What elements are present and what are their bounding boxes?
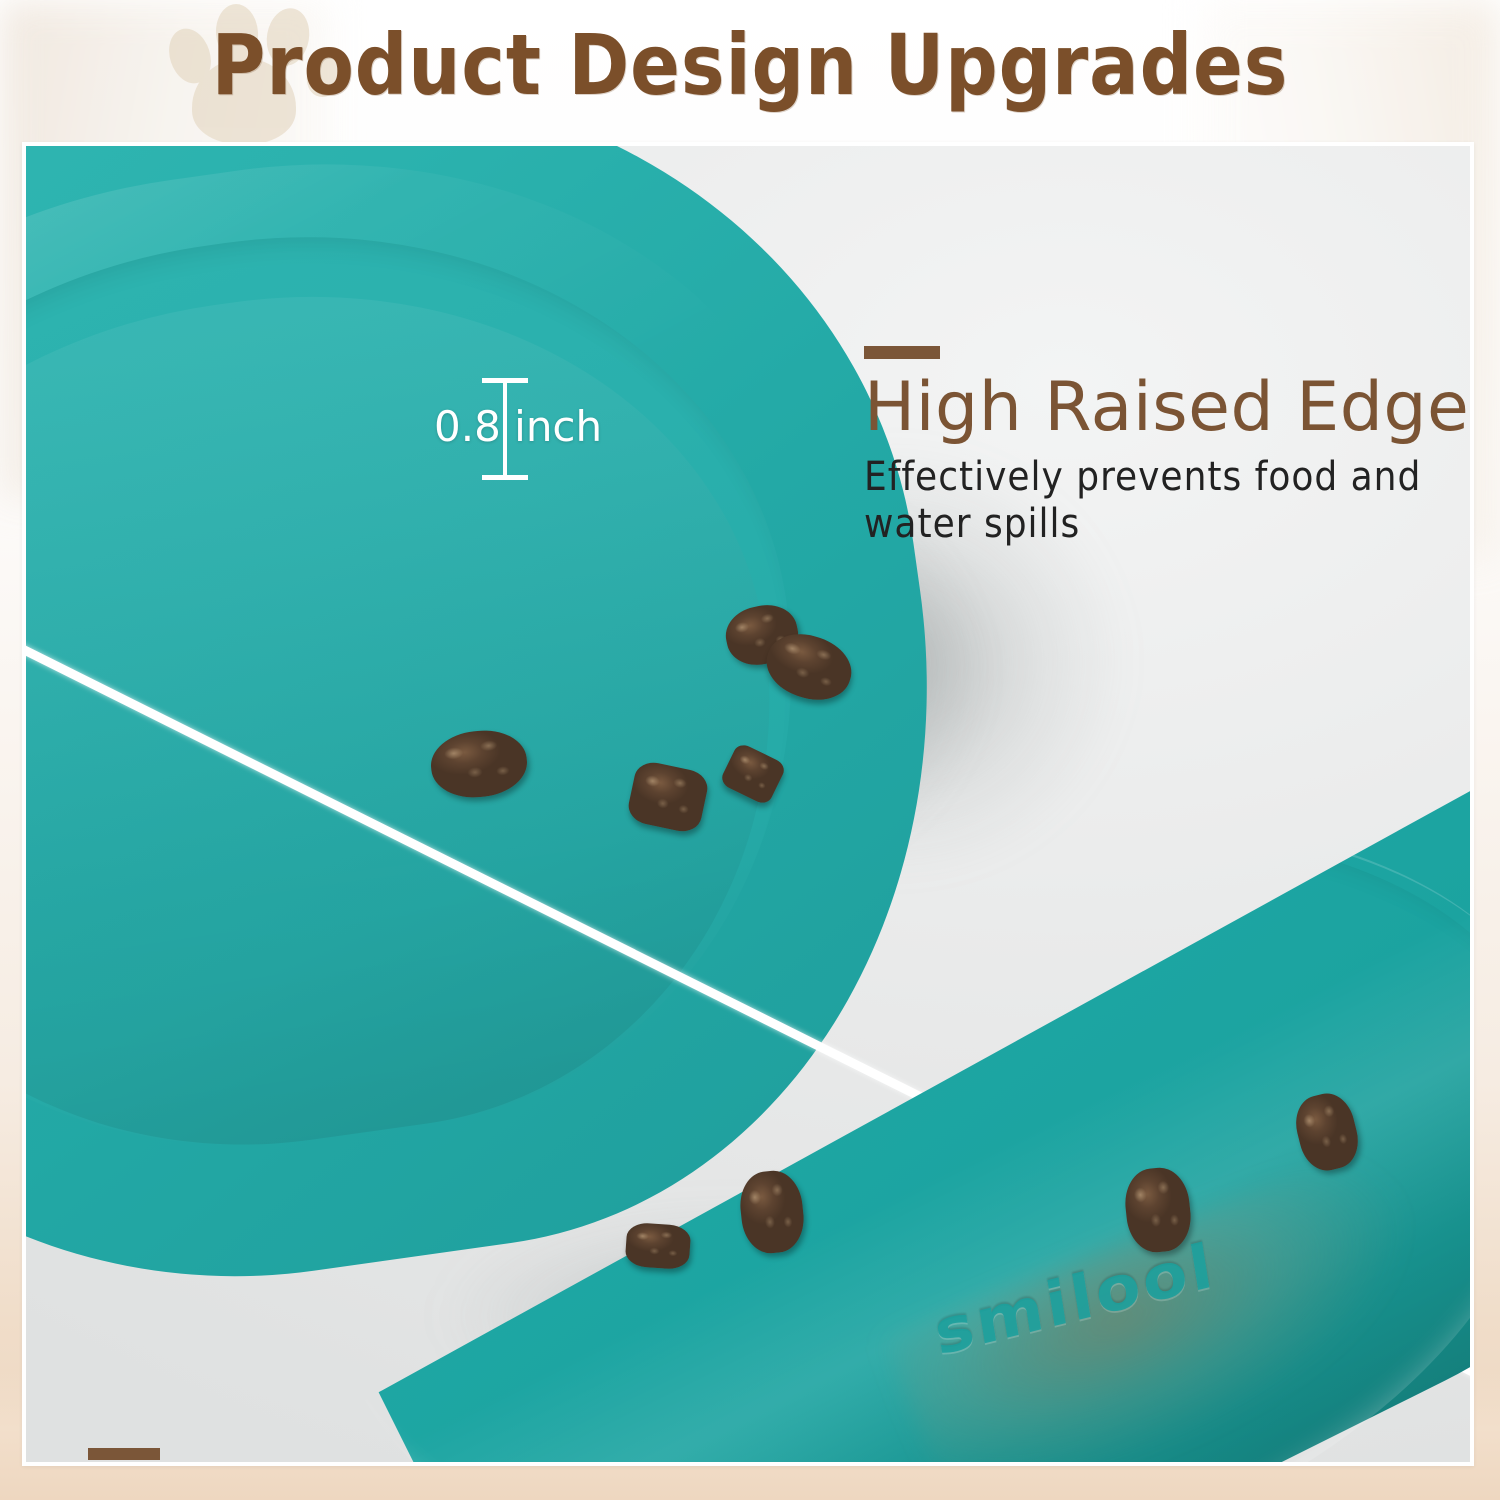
accent-dash-bottom [88, 1448, 160, 1460]
feature-keeping-floor-clean: Keeping the floor clean Minimizes time s… [88, 1448, 1248, 1462]
kibble-piece [625, 1222, 692, 1270]
page-title: Product Design Upgrades [23, 16, 1478, 114]
dimension-annotation: 0.8 inch [456, 374, 666, 494]
feature-subtext-top: Effectively prevents food and water spil… [864, 454, 1470, 547]
dimension-cap-bottom [482, 475, 528, 480]
accent-dash-top [864, 346, 940, 359]
dimension-label: 0.8 inch [434, 402, 654, 451]
feature-high-raised-edges: High Raised Edges Effectively prevents f… [864, 346, 1470, 547]
product-infographic: Product Design Upgrades smiloo [0, 0, 1500, 1500]
feature-heading-top: High Raised Edges [864, 373, 1470, 442]
photo-panel: smilool 0.8 inch High Raised Edges Effec… [26, 146, 1470, 1462]
